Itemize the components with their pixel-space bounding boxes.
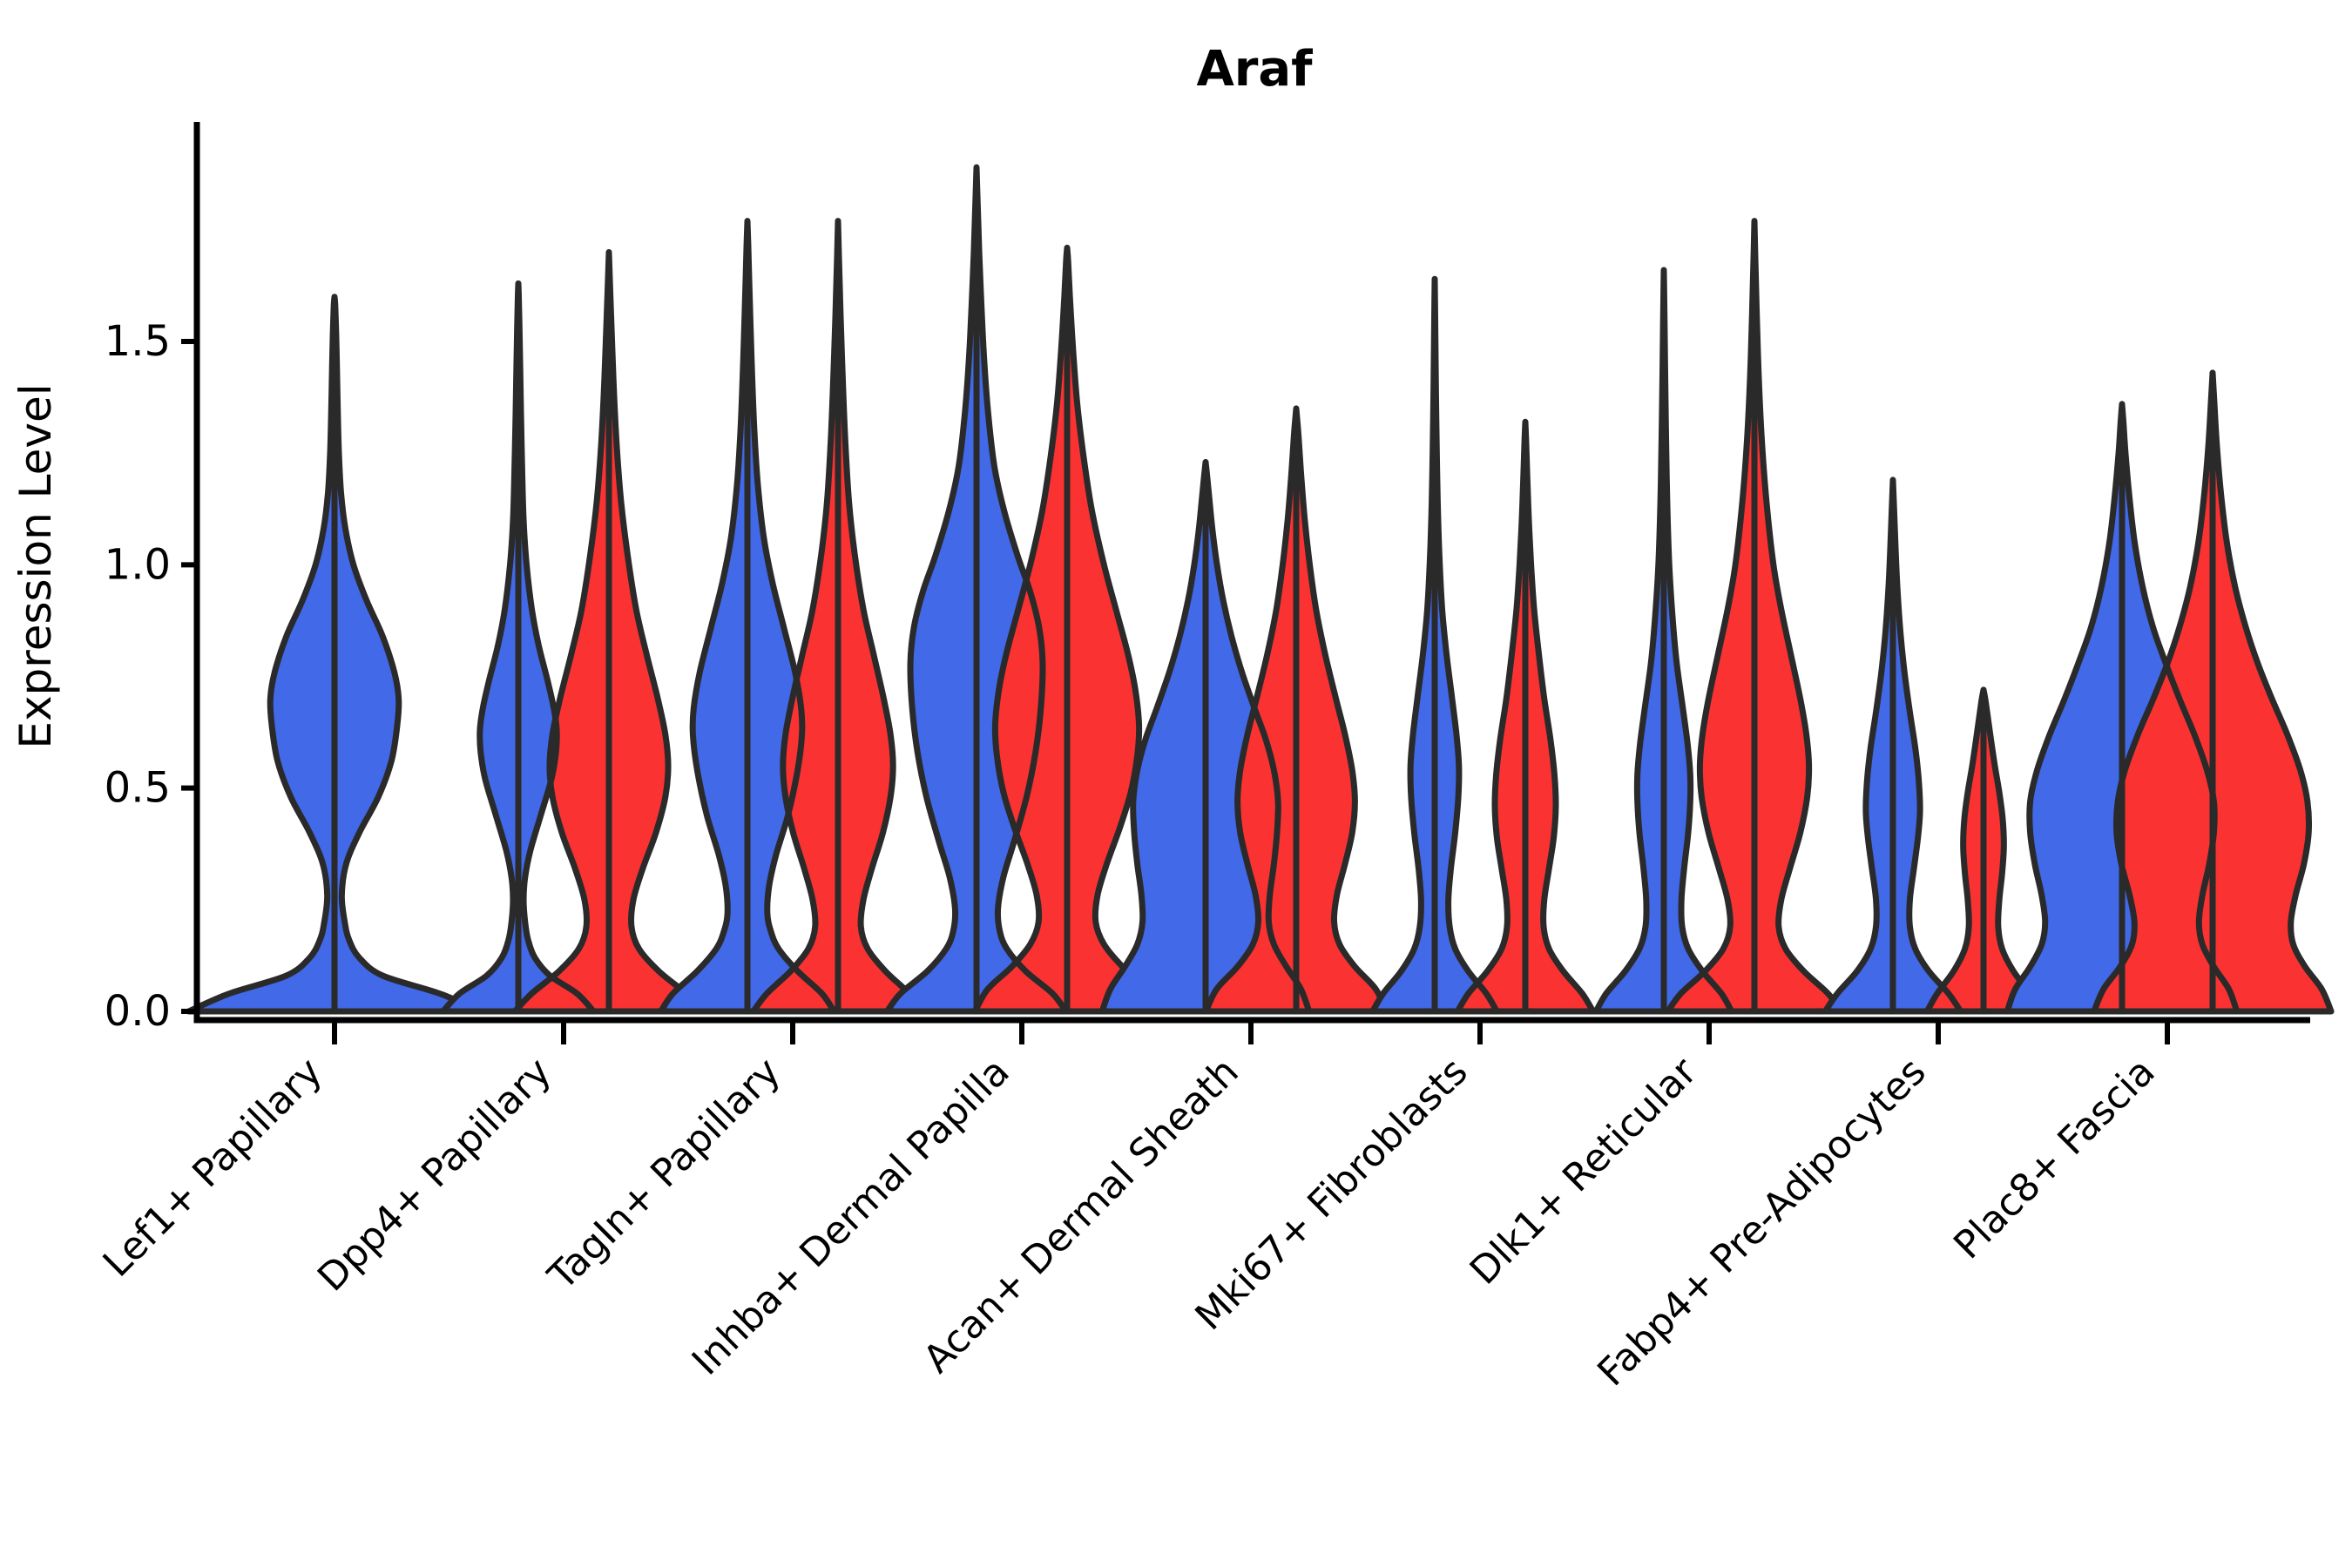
y-tick-label: 1.0 <box>105 540 171 589</box>
y-tick-label: 0.5 <box>105 764 171 813</box>
y-tick-label: 1.5 <box>105 317 171 366</box>
y-axis-label: Expression Level <box>10 383 61 748</box>
plot-canvas: Araf 0.00.51.01.5 Lef1+ PapillaryDpp4+ P… <box>0 0 2352 1568</box>
violin-plot-figure: Araf 0.00.51.01.5 Lef1+ PapillaryDpp4+ P… <box>0 0 2352 1568</box>
page-title: Araf <box>1196 41 1313 98</box>
y-tick-label: 0.0 <box>105 987 171 1036</box>
